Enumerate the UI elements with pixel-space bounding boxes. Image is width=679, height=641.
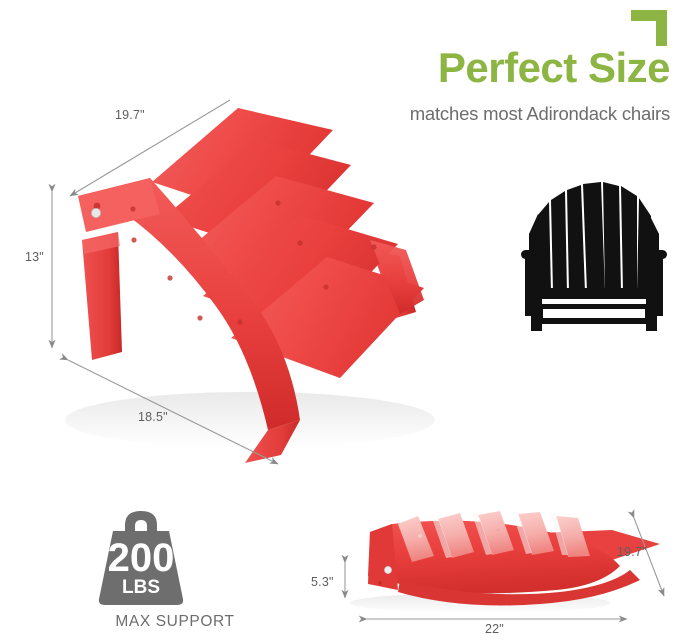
dimension-label-width-folded: 22": [485, 622, 504, 636]
weight-unit: LBS: [122, 577, 160, 598]
adirondack-chair-silhouette: [0, 0, 679, 641]
max-support-caption: MAX SUPPORT: [60, 613, 290, 631]
dimension-label-height-folded: 5.3": [311, 575, 334, 589]
dimension-label-width-top: 19.7": [115, 108, 145, 122]
corner-bracket-icon: [631, 10, 667, 46]
main-product-illustration: [0, 0, 679, 641]
page-subtitle: matches most Adirondack chairs: [300, 101, 670, 127]
infographic-canvas: Perfect Size matches most Adirondack cha…: [0, 0, 679, 641]
weight-value: 200: [108, 536, 175, 580]
folded-product-illustration: [0, 0, 679, 641]
page-title: Perfect Size: [330, 42, 670, 94]
dimension-label-height: 13": [25, 250, 44, 264]
weight-badge-icon: 200 LBS: [0, 0, 679, 641]
main-dimension-lines: [0, 0, 679, 641]
dimension-label-depth-folded: 19.7": [617, 545, 647, 559]
dimension-label-depth: 18.5": [138, 410, 168, 424]
folded-dimension-lines: [0, 0, 679, 641]
